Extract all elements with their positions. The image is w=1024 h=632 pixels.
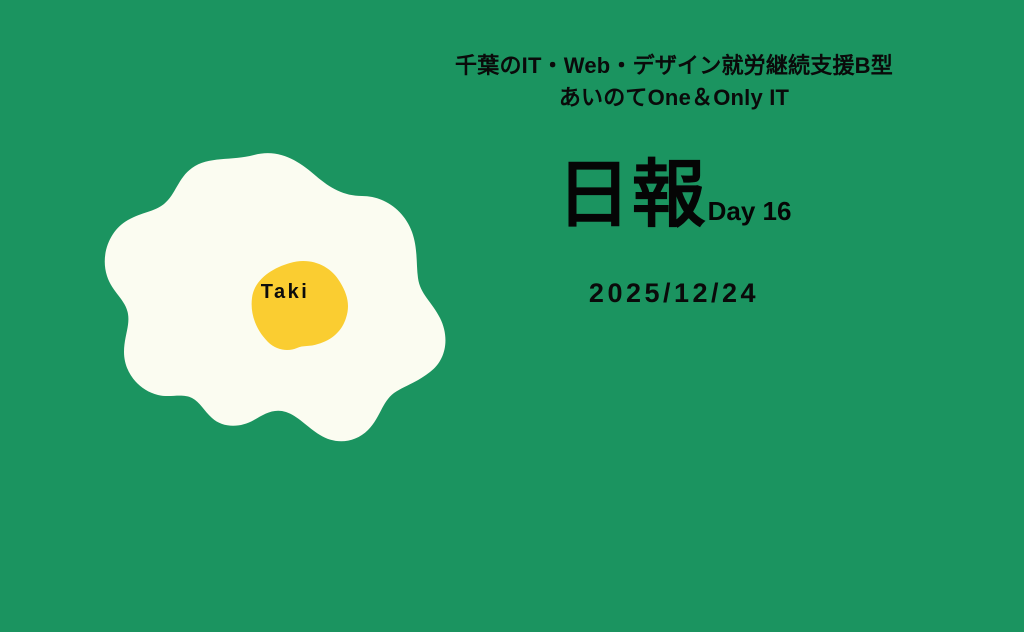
fried-egg-icon xyxy=(104,152,454,472)
title-day-badge: Day 16 xyxy=(708,198,792,230)
page-title: 日報 Day 16 xyxy=(414,160,934,230)
slide-root: Taki 千葉のIT・Web・デザイン就労継続支援B型 あいのてOne＆Only… xyxy=(0,0,1024,632)
egg-yolk-label: Taki xyxy=(235,282,335,302)
fried-egg-illustration xyxy=(104,152,454,472)
organisation-line-1: 千葉のIT・Web・デザイン就労継続支援B型 xyxy=(414,50,934,82)
title-main-text: 日報 xyxy=(557,160,707,230)
organisation-header: 千葉のIT・Web・デザイン就労継続支援B型 あいのてOne＆Only IT xyxy=(414,50,934,114)
report-date: 2025/12/24 xyxy=(414,278,934,309)
organisation-line-2: あいのてOne＆Only IT xyxy=(414,82,934,114)
